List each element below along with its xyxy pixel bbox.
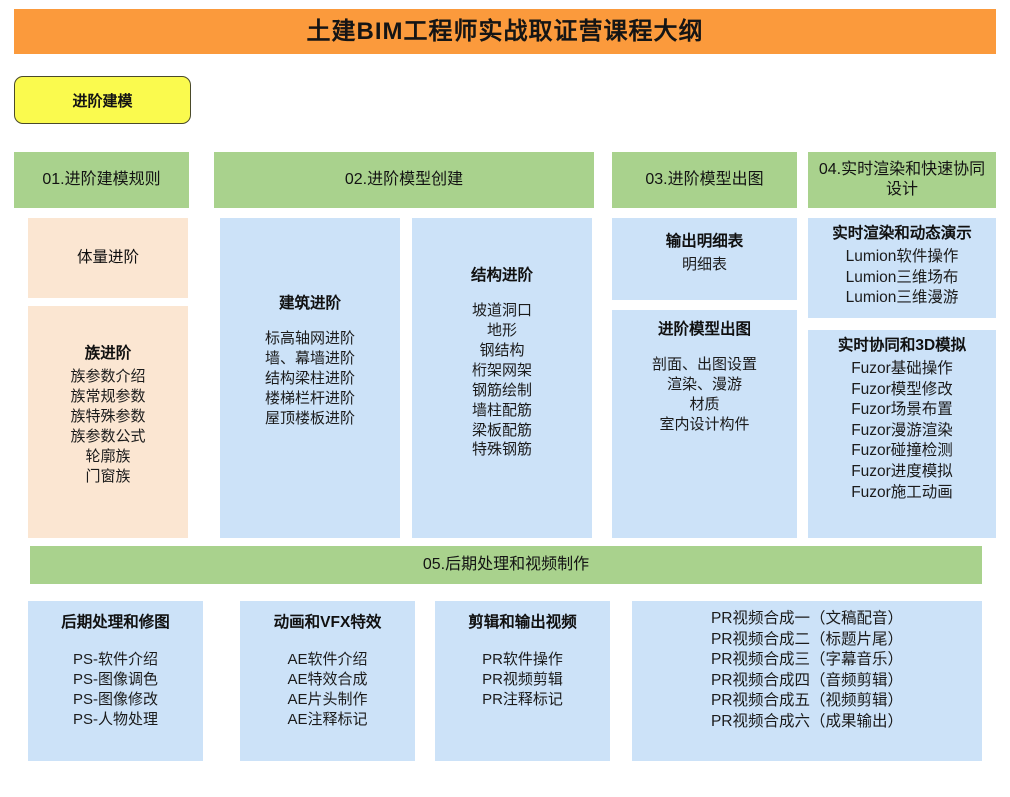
module-header-03: 03.进阶模型出图	[612, 152, 797, 208]
card-massing-title: 体量进阶	[77, 248, 139, 269]
list-item: 剖面、出图设置	[618, 355, 791, 375]
list-item: 梁板配筋	[418, 421, 586, 441]
module-header-03-label: 03.进阶模型出图	[645, 170, 763, 190]
list-item: Fuzor进度模拟	[814, 462, 990, 483]
list-item: Fuzor碰撞检测	[814, 441, 990, 462]
list-item: AE片头制作	[246, 690, 409, 710]
card-massing: 体量进阶	[28, 218, 188, 298]
card-family-list: 族参数介绍 族常规参数 族特殊参数 族参数公式 轮廓族 门窗族	[34, 367, 182, 487]
module-header-02-label: 02.进阶模型创建	[345, 170, 463, 190]
list-item: AE注释标记	[246, 710, 409, 730]
course-outline-page: 土建BIM工程师实战取证营课程大纲 进阶建模 01.进阶建模规则 02.进阶模型…	[0, 0, 1010, 797]
list-item: 轮廓族	[34, 447, 182, 467]
card-premiere-list: PR软件操作 PR视频剪辑 PR注释标记	[441, 650, 604, 710]
card-fuzor-title: 实时协同和3D模拟	[814, 336, 990, 357]
card-family-title: 族进阶	[34, 344, 182, 365]
card-schedule: 输出明细表 明细表	[612, 218, 797, 300]
card-premiere-projects-list: PR视频合成一（文稿配音） PR视频合成二（标题片尾） PR视频合成三（字幕音乐…	[638, 609, 976, 733]
card-lumion: 实时渲染和动态演示 Lumion软件操作 Lumion三维场布 Lumion三维…	[808, 218, 996, 318]
card-premiere-projects: PR视频合成一（文稿配音） PR视频合成二（标题片尾） PR视频合成三（字幕音乐…	[632, 601, 982, 761]
list-item: PR注释标记	[441, 690, 604, 710]
list-item: Lumion三维场布	[814, 268, 990, 289]
list-item: PR视频合成四（音频剪辑）	[638, 671, 976, 692]
card-drawing: 进阶模型出图 剖面、出图设置 渲染、漫游 材质 室内设计构件	[612, 310, 797, 538]
module-header-02: 02.进阶模型创建	[214, 152, 594, 208]
card-lumion-list: Lumion软件操作 Lumion三维场布 Lumion三维漫游	[814, 247, 990, 309]
card-photoshop-list: PS-软件介绍 PS-图像调色 PS-图像修改 PS-人物处理	[34, 650, 197, 730]
list-item: 坡道洞口	[418, 301, 586, 321]
stage-chip-label: 进阶建模	[72, 90, 132, 111]
list-item: AE特效合成	[246, 670, 409, 690]
list-item: 门窗族	[34, 467, 182, 487]
list-item: 族常规参数	[34, 387, 182, 407]
list-item: 明细表	[618, 255, 791, 275]
card-schedule-list: 明细表	[618, 255, 791, 275]
card-structure: 结构进阶 坡道洞口 地形 钢结构 桁架网架 钢筋绘制 墙柱配筋 梁板配筋 特殊钢…	[412, 218, 592, 538]
page-title: 土建BIM工程师实战取证营课程大纲	[307, 20, 704, 44]
list-item: 楼梯栏杆进阶	[226, 389, 394, 409]
list-item: PS-人物处理	[34, 710, 197, 730]
list-item: Fuzor场景布置	[814, 400, 990, 421]
list-item: 墙柱配筋	[418, 401, 586, 421]
card-family: 族进阶 族参数介绍 族常规参数 族特殊参数 族参数公式 轮廓族 门窗族	[28, 306, 188, 538]
module-header-01-label: 01.进阶建模规则	[42, 170, 160, 190]
list-item: PR视频合成二（标题片尾）	[638, 630, 976, 651]
card-aftereffects-title: 动画和VFX特效	[246, 613, 409, 634]
card-structure-title: 结构进阶	[418, 266, 586, 287]
list-item: PR视频合成五（视频剪辑）	[638, 691, 976, 712]
list-item: PS-图像修改	[34, 690, 197, 710]
stage-chip-advanced-modeling: 进阶建模	[14, 76, 191, 124]
card-fuzor: 实时协同和3D模拟 Fuzor基础操作 Fuzor模型修改 Fuzor场景布置 …	[808, 330, 996, 538]
list-item: 墙、幕墙进阶	[226, 349, 394, 369]
card-architecture: 建筑进阶 标高轴网进阶 墙、幕墙进阶 结构梁柱进阶 楼梯栏杆进阶 屋顶楼板进阶	[220, 218, 400, 538]
module-header-05-label: 05.后期处理和视频制作	[423, 555, 589, 575]
card-drawing-title: 进阶模型出图	[618, 320, 791, 341]
list-item: 特殊钢筋	[418, 440, 586, 460]
card-structure-list: 坡道洞口 地形 钢结构 桁架网架 钢筋绘制 墙柱配筋 梁板配筋 特殊钢筋	[418, 301, 586, 461]
module-header-04-label: 04.实时渲染和快速协同设计	[814, 160, 990, 200]
list-item: 族特殊参数	[34, 407, 182, 427]
list-item: 结构梁柱进阶	[226, 369, 394, 389]
card-aftereffects: 动画和VFX特效 AE软件介绍 AE特效合成 AE片头制作 AE注释标记	[240, 601, 415, 761]
module-header-05: 05.后期处理和视频制作	[30, 546, 982, 584]
list-item: PS-软件介绍	[34, 650, 197, 670]
card-architecture-list: 标高轴网进阶 墙、幕墙进阶 结构梁柱进阶 楼梯栏杆进阶 屋顶楼板进阶	[226, 329, 394, 429]
list-item: PR视频合成三（字幕音乐）	[638, 650, 976, 671]
list-item: 族参数公式	[34, 427, 182, 447]
card-photoshop: 后期处理和修图 PS-软件介绍 PS-图像调色 PS-图像修改 PS-人物处理	[28, 601, 203, 761]
list-item: Lumion三维漫游	[814, 288, 990, 309]
card-premiere: 剪辑和输出视频 PR软件操作 PR视频剪辑 PR注释标记	[435, 601, 610, 761]
module-header-04: 04.实时渲染和快速协同设计	[808, 152, 996, 208]
page-title-bar: 土建BIM工程师实战取证营课程大纲	[14, 9, 996, 54]
list-item: 材质	[618, 395, 791, 415]
card-photoshop-title: 后期处理和修图	[34, 613, 197, 634]
card-drawing-list: 剖面、出图设置 渲染、漫游 材质 室内设计构件	[618, 355, 791, 435]
list-item: Fuzor施工动画	[814, 483, 990, 504]
list-item: 桁架网架	[418, 361, 586, 381]
card-schedule-title: 输出明细表	[618, 232, 791, 253]
list-item: PR视频剪辑	[441, 670, 604, 690]
list-item: 钢结构	[418, 341, 586, 361]
list-item: 族参数介绍	[34, 367, 182, 387]
list-item: 地形	[418, 321, 586, 341]
list-item: PR视频合成一（文稿配音）	[638, 609, 976, 630]
list-item: 室内设计构件	[618, 415, 791, 435]
card-lumion-title: 实时渲染和动态演示	[814, 224, 990, 245]
card-architecture-title: 建筑进阶	[226, 294, 394, 315]
list-item: 渲染、漫游	[618, 375, 791, 395]
list-item: PR视频合成六（成果输出）	[638, 712, 976, 733]
list-item: PS-图像调色	[34, 670, 197, 690]
list-item: PR软件操作	[441, 650, 604, 670]
module-header-01: 01.进阶建模规则	[14, 152, 189, 208]
list-item: 屋顶楼板进阶	[226, 409, 394, 429]
list-item: 标高轴网进阶	[226, 329, 394, 349]
list-item: Fuzor基础操作	[814, 359, 990, 380]
list-item: AE软件介绍	[246, 650, 409, 670]
list-item: 钢筋绘制	[418, 381, 586, 401]
card-fuzor-list: Fuzor基础操作 Fuzor模型修改 Fuzor场景布置 Fuzor漫游渲染 …	[814, 359, 990, 503]
list-item: Fuzor漫游渲染	[814, 421, 990, 442]
list-item: Fuzor模型修改	[814, 380, 990, 401]
list-item: Lumion软件操作	[814, 247, 990, 268]
card-aftereffects-list: AE软件介绍 AE特效合成 AE片头制作 AE注释标记	[246, 650, 409, 730]
card-premiere-title: 剪辑和输出视频	[441, 613, 604, 634]
